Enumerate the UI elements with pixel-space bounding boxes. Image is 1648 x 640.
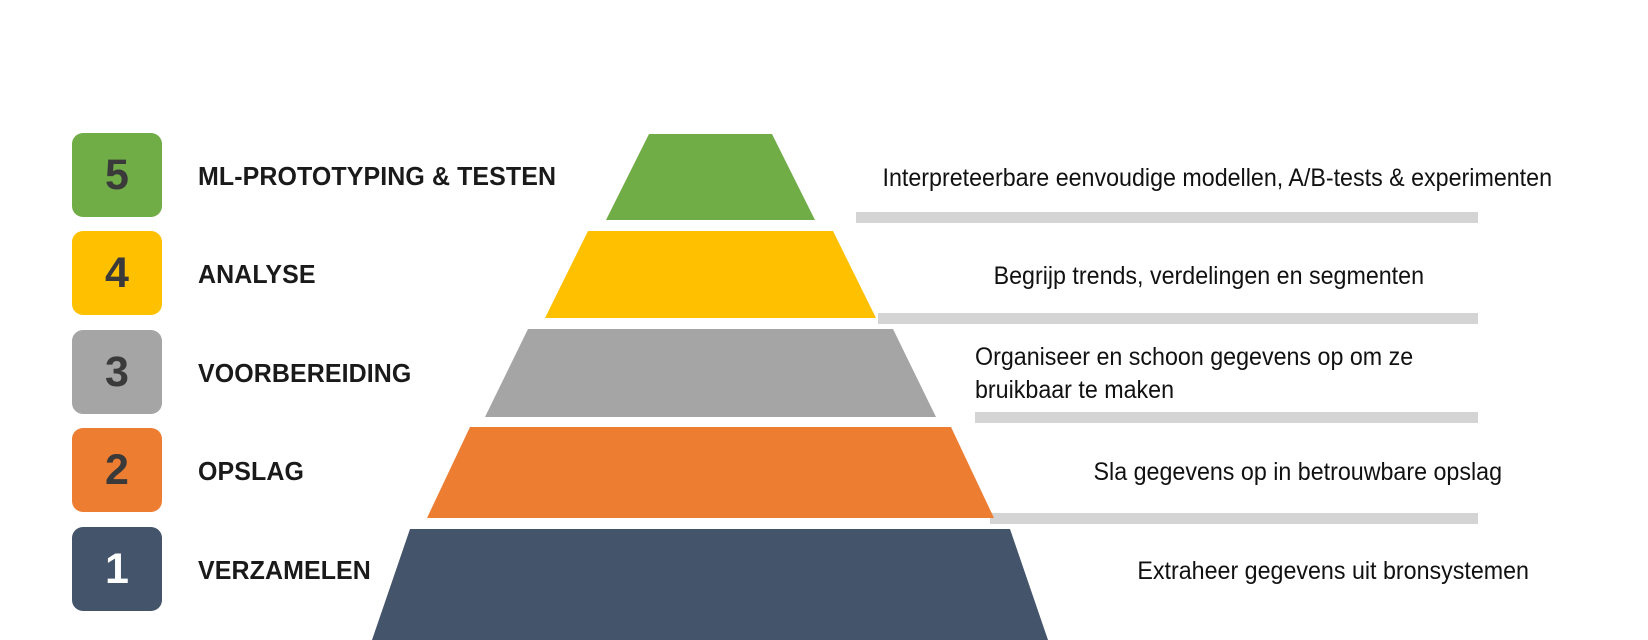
level-badge-3[interactable]: 3	[72, 330, 162, 414]
connector-bar-3	[975, 412, 1478, 423]
stage-description-1: Extraheer gegevens uit bronsystemen	[971, 555, 1529, 588]
pyramid-diagram: 5 4 3 2 1 ML-PROTOTYPING & TESTEN ANALYS…	[0, 0, 1648, 640]
connector-bar-5	[856, 212, 1478, 223]
pyramid-band-2	[427, 427, 994, 518]
connector-bar-2	[990, 513, 1478, 524]
stage-description-4: Begrijp trends, verdelingen en segmenten	[847, 260, 1424, 293]
pyramid-band-5	[606, 134, 815, 220]
level-badge-5[interactable]: 5	[72, 133, 162, 217]
stage-description-3-line-1: Organiseer en schoon gegevens op om ze	[975, 341, 1496, 374]
level-number-4: 4	[105, 252, 129, 295]
stage-description-5: Interpreteerbare eenvoudige modellen, A/…	[864, 162, 1552, 195]
stage-label-2: OPSLAG	[198, 456, 304, 487]
pyramid-graphic	[0, 0, 1648, 640]
level-badge-2[interactable]: 2	[72, 428, 162, 512]
stage-description-3: Organiseer en schoon gegevens op om ze b…	[975, 341, 1496, 407]
level-number-1: 1	[105, 548, 129, 591]
stage-label-3: VOORBEREIDING	[198, 358, 411, 389]
stage-label-5: ML-PROTOTYPING & TESTEN	[198, 161, 556, 192]
level-badge-4[interactable]: 4	[72, 231, 162, 315]
stage-description-3-line-2: bruikbaar te maken	[975, 374, 1496, 407]
stage-description-2: Sla gegevens op in betrouwbare opslag	[944, 456, 1502, 489]
level-number-3: 3	[105, 351, 129, 394]
stage-label-4: ANALYSE	[198, 259, 316, 290]
pyramid-band-4	[545, 231, 876, 318]
pyramid-band-1	[372, 529, 1048, 640]
level-number-5: 5	[105, 154, 129, 197]
connector-bar-4	[878, 313, 1478, 324]
level-badge-1[interactable]: 1	[72, 527, 162, 611]
pyramid-band-3	[485, 329, 936, 417]
stage-label-1: VERZAMELEN	[198, 555, 371, 586]
level-number-2: 2	[105, 449, 129, 492]
